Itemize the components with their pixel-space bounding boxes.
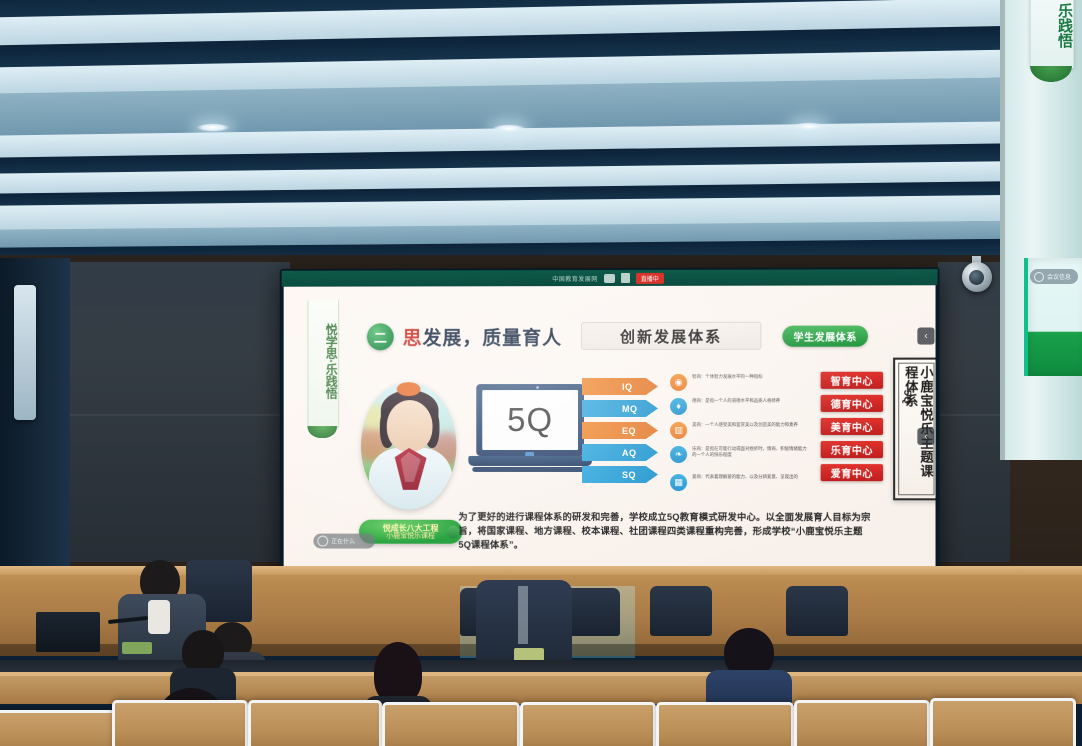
slide-tool-badge-label: 正在什么 xyxy=(331,537,355,546)
center-deyu-label: 德育中心 xyxy=(831,396,873,411)
display-status-bar: 中国教育发展网 直播中 xyxy=(282,269,938,287)
education-center-list: 智育中心 德育中心 美育中心 乐育中心 爱育中心 xyxy=(821,372,883,487)
brain-icon-glyph: ◉ xyxy=(675,378,683,387)
arrow-mq-label: MQ xyxy=(622,403,638,413)
heart-icon: ♦ xyxy=(670,398,687,415)
center-leyu-label: 乐育中心 xyxy=(831,442,873,457)
center-meiyu: 美育中心 xyxy=(821,418,883,435)
settings-icon xyxy=(317,536,328,547)
auditorium-seat xyxy=(0,710,116,746)
laptop-screen: 5Q xyxy=(482,390,578,450)
list-item-text: 乐商：是指在可能行动或面对挫折时，情商、积极情绪能力的一个人的快乐程度 xyxy=(692,446,810,458)
chart-icon: ▥ xyxy=(670,422,687,439)
wall-speaker xyxy=(14,285,36,420)
auditorium-seat xyxy=(520,702,656,746)
quotient-arrow-group: IQ MQ EQ AQ SQ xyxy=(582,378,672,484)
list-item-text: 美商：一个人感受美和鉴赏美以及创造美的能力和素养 xyxy=(692,422,810,428)
pillar-icon-glyph: ▦ xyxy=(674,478,683,487)
center-aiyu: 爱育中心 xyxy=(821,464,883,481)
arrow-aq: AQ xyxy=(582,444,658,461)
chevron-glyph: ‹ xyxy=(924,330,927,341)
arrow-mq: MQ xyxy=(582,400,658,417)
chevron-left-icon-bottom[interactable]: ‹ xyxy=(917,428,934,445)
status-bar-text: 中国教育发展网 xyxy=(552,274,597,283)
side-display-badge-label: 会议信息 xyxy=(1047,272,1071,281)
slide-paragraph: 为了更好的进行课程体系的研发和完善，学校成立5Q教育模式研发中心。以全面发展育人… xyxy=(458,510,871,553)
slide-topic-pill: 学生发展体系 xyxy=(782,325,868,346)
arrow-eq: EQ xyxy=(582,422,658,439)
center-zhiyu: 智育中心 xyxy=(821,372,883,389)
auditorium-seat xyxy=(656,702,794,746)
auditorium-seat xyxy=(382,702,520,746)
center-zhiyu-label: 智育中心 xyxy=(831,373,873,388)
pillar-icon: ▦ xyxy=(670,474,687,491)
center-leyu: 乐育中心 xyxy=(821,441,883,458)
chevron-left-icon-top[interactable]: ‹ xyxy=(917,327,934,344)
projection-display[interactable]: 中国教育发展网 直播中 悦学思·乐践悟 二 思发展，质量育人 创新发展体系 学生… xyxy=(280,267,940,605)
audience-head xyxy=(374,642,422,704)
ceiling-downlight xyxy=(196,123,230,132)
slide-title: 思发展，质量育人 xyxy=(403,323,562,350)
list-item-text: 德商：是指一个人的道德水平和品质人格修养 xyxy=(692,398,810,404)
list-item-text: 智商：个体智力发展水平的一种指标 xyxy=(692,374,810,380)
slide-header: 二 思发展，质量育人 创新发展体系 学生发展体系 xyxy=(367,322,868,351)
ceiling-downlight xyxy=(792,122,826,131)
list-item: ▥ 美商：一个人感受美和鉴赏美以及创造美的能力和素养 xyxy=(670,422,811,439)
list-item-text: 爱商：代表着理解爱的能力、以及分辨爱意、呈现出的 xyxy=(692,474,810,480)
laptop-screen-label: 5Q xyxy=(507,401,553,439)
slide-subtitle-box: 创新发展体系 xyxy=(581,322,761,350)
student-photo xyxy=(361,382,456,510)
leaf-icon: ❧ xyxy=(670,446,687,463)
hanging-banner-text: 乐践悟 xyxy=(1031,0,1073,60)
cloud-icon xyxy=(604,273,615,282)
screenshot-root: 乐践悟 会议信息 中国教育发展网 直播中 悦学思·乐践悟 二 思发展，质量育人 xyxy=(0,0,1082,746)
list-item: ▦ 爱商：代表着理解爱的能力、以及分辨爱意、呈现出的 xyxy=(670,474,811,491)
slide-side-ribbon-text: 悦学思·乐践悟 xyxy=(308,306,338,418)
wall-panel xyxy=(60,262,290,562)
section-number-badge: 二 xyxy=(367,323,394,350)
arrow-aq-label: AQ xyxy=(622,448,637,458)
auditorium-seat xyxy=(248,700,382,746)
presentation-slide: 悦学思·乐践悟 二 思发展，质量育人 创新发展体系 学生发展体系 xyxy=(284,285,936,576)
quotient-description-list: ◉ 智商：个体智力发展水平的一种指标 ♦ 德商：是指一个人的道德水平和品质人格修… xyxy=(670,374,821,492)
photo-caption-line1: 悦成长八大工程 xyxy=(383,523,439,532)
center-aiyu-label: 爱育中心 xyxy=(831,465,873,480)
ceiling xyxy=(0,0,1082,262)
list-item: ❧ 乐商：是指在可能行动或面对挫折时，情商、积极情绪能力的一个人的快乐程度 xyxy=(670,446,811,463)
vertical-title-sub: 5Q xyxy=(901,390,912,430)
arrow-iq-label: IQ xyxy=(622,381,633,391)
auditorium-seat xyxy=(930,698,1076,746)
laptop-camera-icon xyxy=(536,386,539,389)
chevron-glyph: ‹ xyxy=(924,431,927,442)
brain-icon: ◉ xyxy=(670,374,687,391)
leaf-icon-glyph: ❧ xyxy=(675,450,683,459)
slide-tool-badge[interactable]: 正在什么 xyxy=(313,534,374,549)
list-item: ◉ 智商：个体智力发展水平的一种指标 xyxy=(670,374,811,391)
slide-side-ribbon-tip xyxy=(307,426,337,438)
arrow-iq: IQ xyxy=(582,378,658,395)
arrow-sq-label: SQ xyxy=(622,470,636,480)
auditorium-seat xyxy=(112,700,248,746)
slide-subtitle-text: 创新发展体系 xyxy=(620,325,722,346)
arrow-sq: SQ xyxy=(582,466,658,483)
info-icon xyxy=(1034,272,1044,282)
heart-icon-glyph: ♦ xyxy=(676,402,681,411)
auditorium-seat xyxy=(794,700,930,746)
slide-title-highlight: 思 xyxy=(403,328,423,349)
slide-side-ribbon: 悦学思·乐践悟 xyxy=(307,301,339,428)
center-meiyu-label: 美育中心 xyxy=(831,419,873,434)
live-badge: 直播中 xyxy=(636,272,664,283)
slide-title-rest: 发展，质量育人 xyxy=(423,328,563,349)
laptop-illustration: 5Q xyxy=(468,384,592,476)
name-plate xyxy=(122,642,152,654)
hanging-banner: 乐践悟 xyxy=(1030,0,1074,68)
side-display-badge[interactable]: 会议信息 xyxy=(1030,269,1078,284)
ptz-camera xyxy=(962,262,992,292)
chart-icon-glyph: ▥ xyxy=(674,426,683,435)
slide-topic-pill-label: 学生发展体系 xyxy=(794,328,857,343)
presenter-laptop xyxy=(36,612,100,652)
arrow-eq-label: EQ xyxy=(622,425,636,435)
stage-chair xyxy=(786,586,848,636)
photo-caption-line2: 小鹿宝悦乐课程 xyxy=(386,532,435,540)
right-wall-edge xyxy=(1000,0,1005,460)
stage-chair xyxy=(650,586,712,636)
ceiling-downlight xyxy=(492,124,526,133)
list-item: ♦ 德商：是指一个人的道德水平和品质人格修养 xyxy=(670,398,811,415)
center-deyu: 德育中心 xyxy=(821,395,883,412)
app-icon xyxy=(621,273,630,283)
